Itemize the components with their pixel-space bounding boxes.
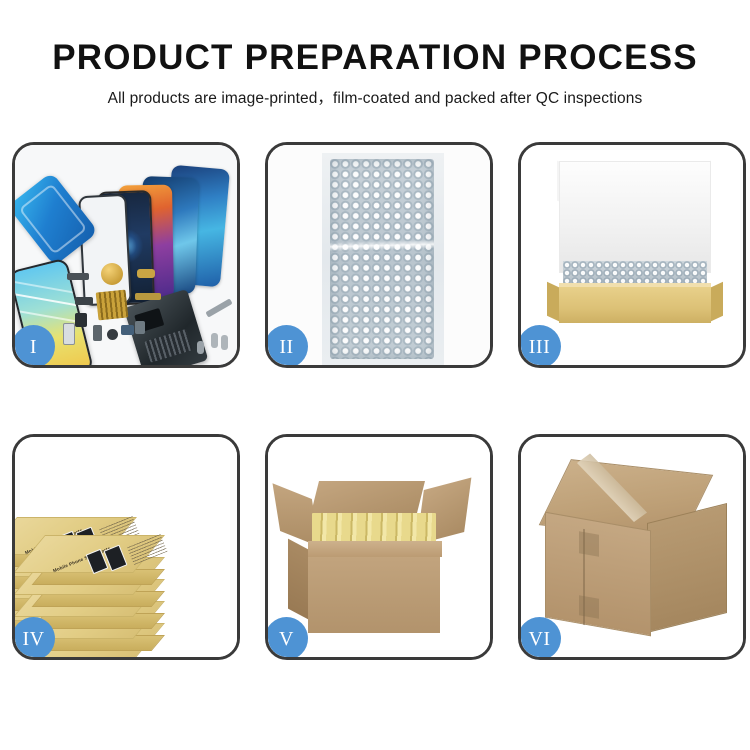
product-preparation-infographic: PRODUCT PREPARATION PROCESS All products… [0, 0, 750, 750]
small-part-c [93, 325, 102, 341]
carton-tab-upper [579, 531, 599, 557]
camera-module-part [107, 329, 118, 340]
step-badge-5: V [265, 617, 308, 660]
step-panel-2: II [265, 142, 493, 368]
screwdriver-tool-a [211, 333, 218, 348]
step-panel-4: Mobile Phone Spare Parts Mobile Phone Sp… [12, 434, 240, 660]
small-part-a [75, 297, 93, 305]
steps-grid: I II III [12, 142, 738, 682]
step-panel-3: III [518, 142, 746, 368]
bubble-wrap-texture [330, 159, 434, 359]
sim-tray-part [63, 323, 75, 345]
carton-front-flap [308, 541, 442, 557]
step-badge-3: III [518, 325, 561, 368]
chip-grid-part [96, 290, 129, 321]
gold-strip-part [135, 293, 161, 300]
gold-flex-part [137, 269, 155, 278]
mailer-box-lid [559, 161, 711, 273]
page-subtitle: All products are image-printed，film-coat… [0, 78, 750, 108]
sealed-carton-right-face [647, 503, 727, 633]
step-panel-6: VI [518, 434, 746, 660]
header: PRODUCT PREPARATION PROCESS All products… [0, 0, 750, 108]
carton-front-face [308, 555, 440, 633]
screwdriver-tool-b [221, 335, 228, 350]
small-part-e [135, 321, 145, 334]
page-title: PRODUCT PREPARATION PROCESS [0, 0, 750, 78]
step-badge-1: I [12, 325, 55, 368]
step-badge-2: II [265, 325, 308, 368]
mailer-box-front [559, 287, 711, 323]
small-part-b [75, 313, 87, 327]
flex-cable-part [67, 273, 89, 280]
small-part-d [121, 325, 134, 335]
step-badge-4: IV [12, 617, 55, 660]
step-panel-1: I [12, 142, 240, 368]
step-panel-5: V [265, 434, 493, 660]
carton-tab-lower [579, 595, 599, 619]
mailer-box-right-side [709, 282, 723, 323]
gold-connector-part [101, 263, 123, 285]
screw-part [197, 341, 204, 354]
step-badge-6: VI [518, 617, 561, 660]
